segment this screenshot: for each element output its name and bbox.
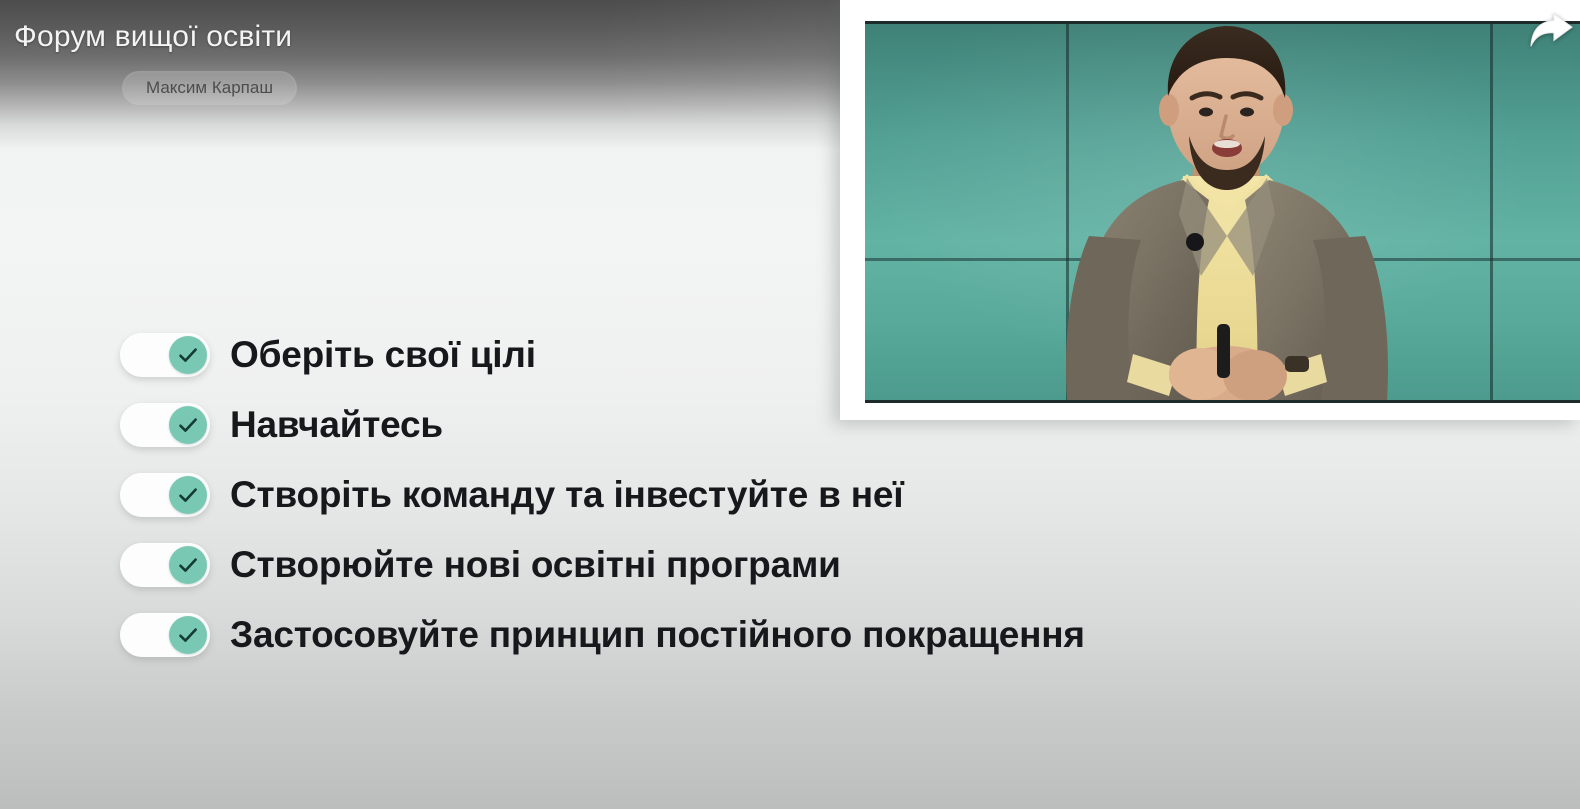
toggle-knob [169, 406, 207, 444]
toggle-switch-3[interactable] [120, 473, 210, 517]
video-panel[interactable] [840, 0, 1580, 420]
speaker-name-badge: Максим Карпаш [122, 71, 297, 105]
check-icon [176, 623, 200, 647]
toggle-switch-2[interactable] [120, 403, 210, 447]
toggle-knob [169, 546, 207, 584]
checklist-item: Створюйте нові освітні програми [120, 543, 1085, 587]
checklist-item: Створіть команду та інвестуйте в неї [120, 473, 1085, 517]
deck-title: Форум вищої освіти [14, 20, 292, 54]
checklist-item-label: Створюйте нові освітні програми [230, 544, 841, 586]
presenter-figure [865, 24, 1580, 400]
toggle-switch-4[interactable] [120, 543, 210, 587]
video-viewport [865, 21, 1580, 403]
checklist-item-label: Створіть команду та інвестуйте в неї [230, 474, 904, 516]
toggle-knob [169, 336, 207, 374]
check-icon [176, 483, 200, 507]
toggle-switch-5[interactable] [120, 613, 210, 657]
checklist-item-label: Оберіть свої цілі [230, 334, 536, 376]
check-icon [176, 343, 200, 367]
checklist-item-label: Навчайтесь [230, 404, 443, 446]
checklist-item: Застосовуйте принцип постійного покращен… [120, 613, 1085, 657]
presentation-stage: Форум вищої освіти Максим Карпаш Оберіть… [0, 0, 1580, 809]
check-icon [176, 413, 200, 437]
share-arrow-icon[interactable] [1528, 8, 1574, 52]
checklist-item-label: Застосовуйте принцип постійного покращен… [230, 614, 1085, 656]
toggle-knob [169, 476, 207, 514]
toggle-switch-1[interactable] [120, 333, 210, 377]
check-icon [176, 553, 200, 577]
toggle-knob [169, 616, 207, 654]
